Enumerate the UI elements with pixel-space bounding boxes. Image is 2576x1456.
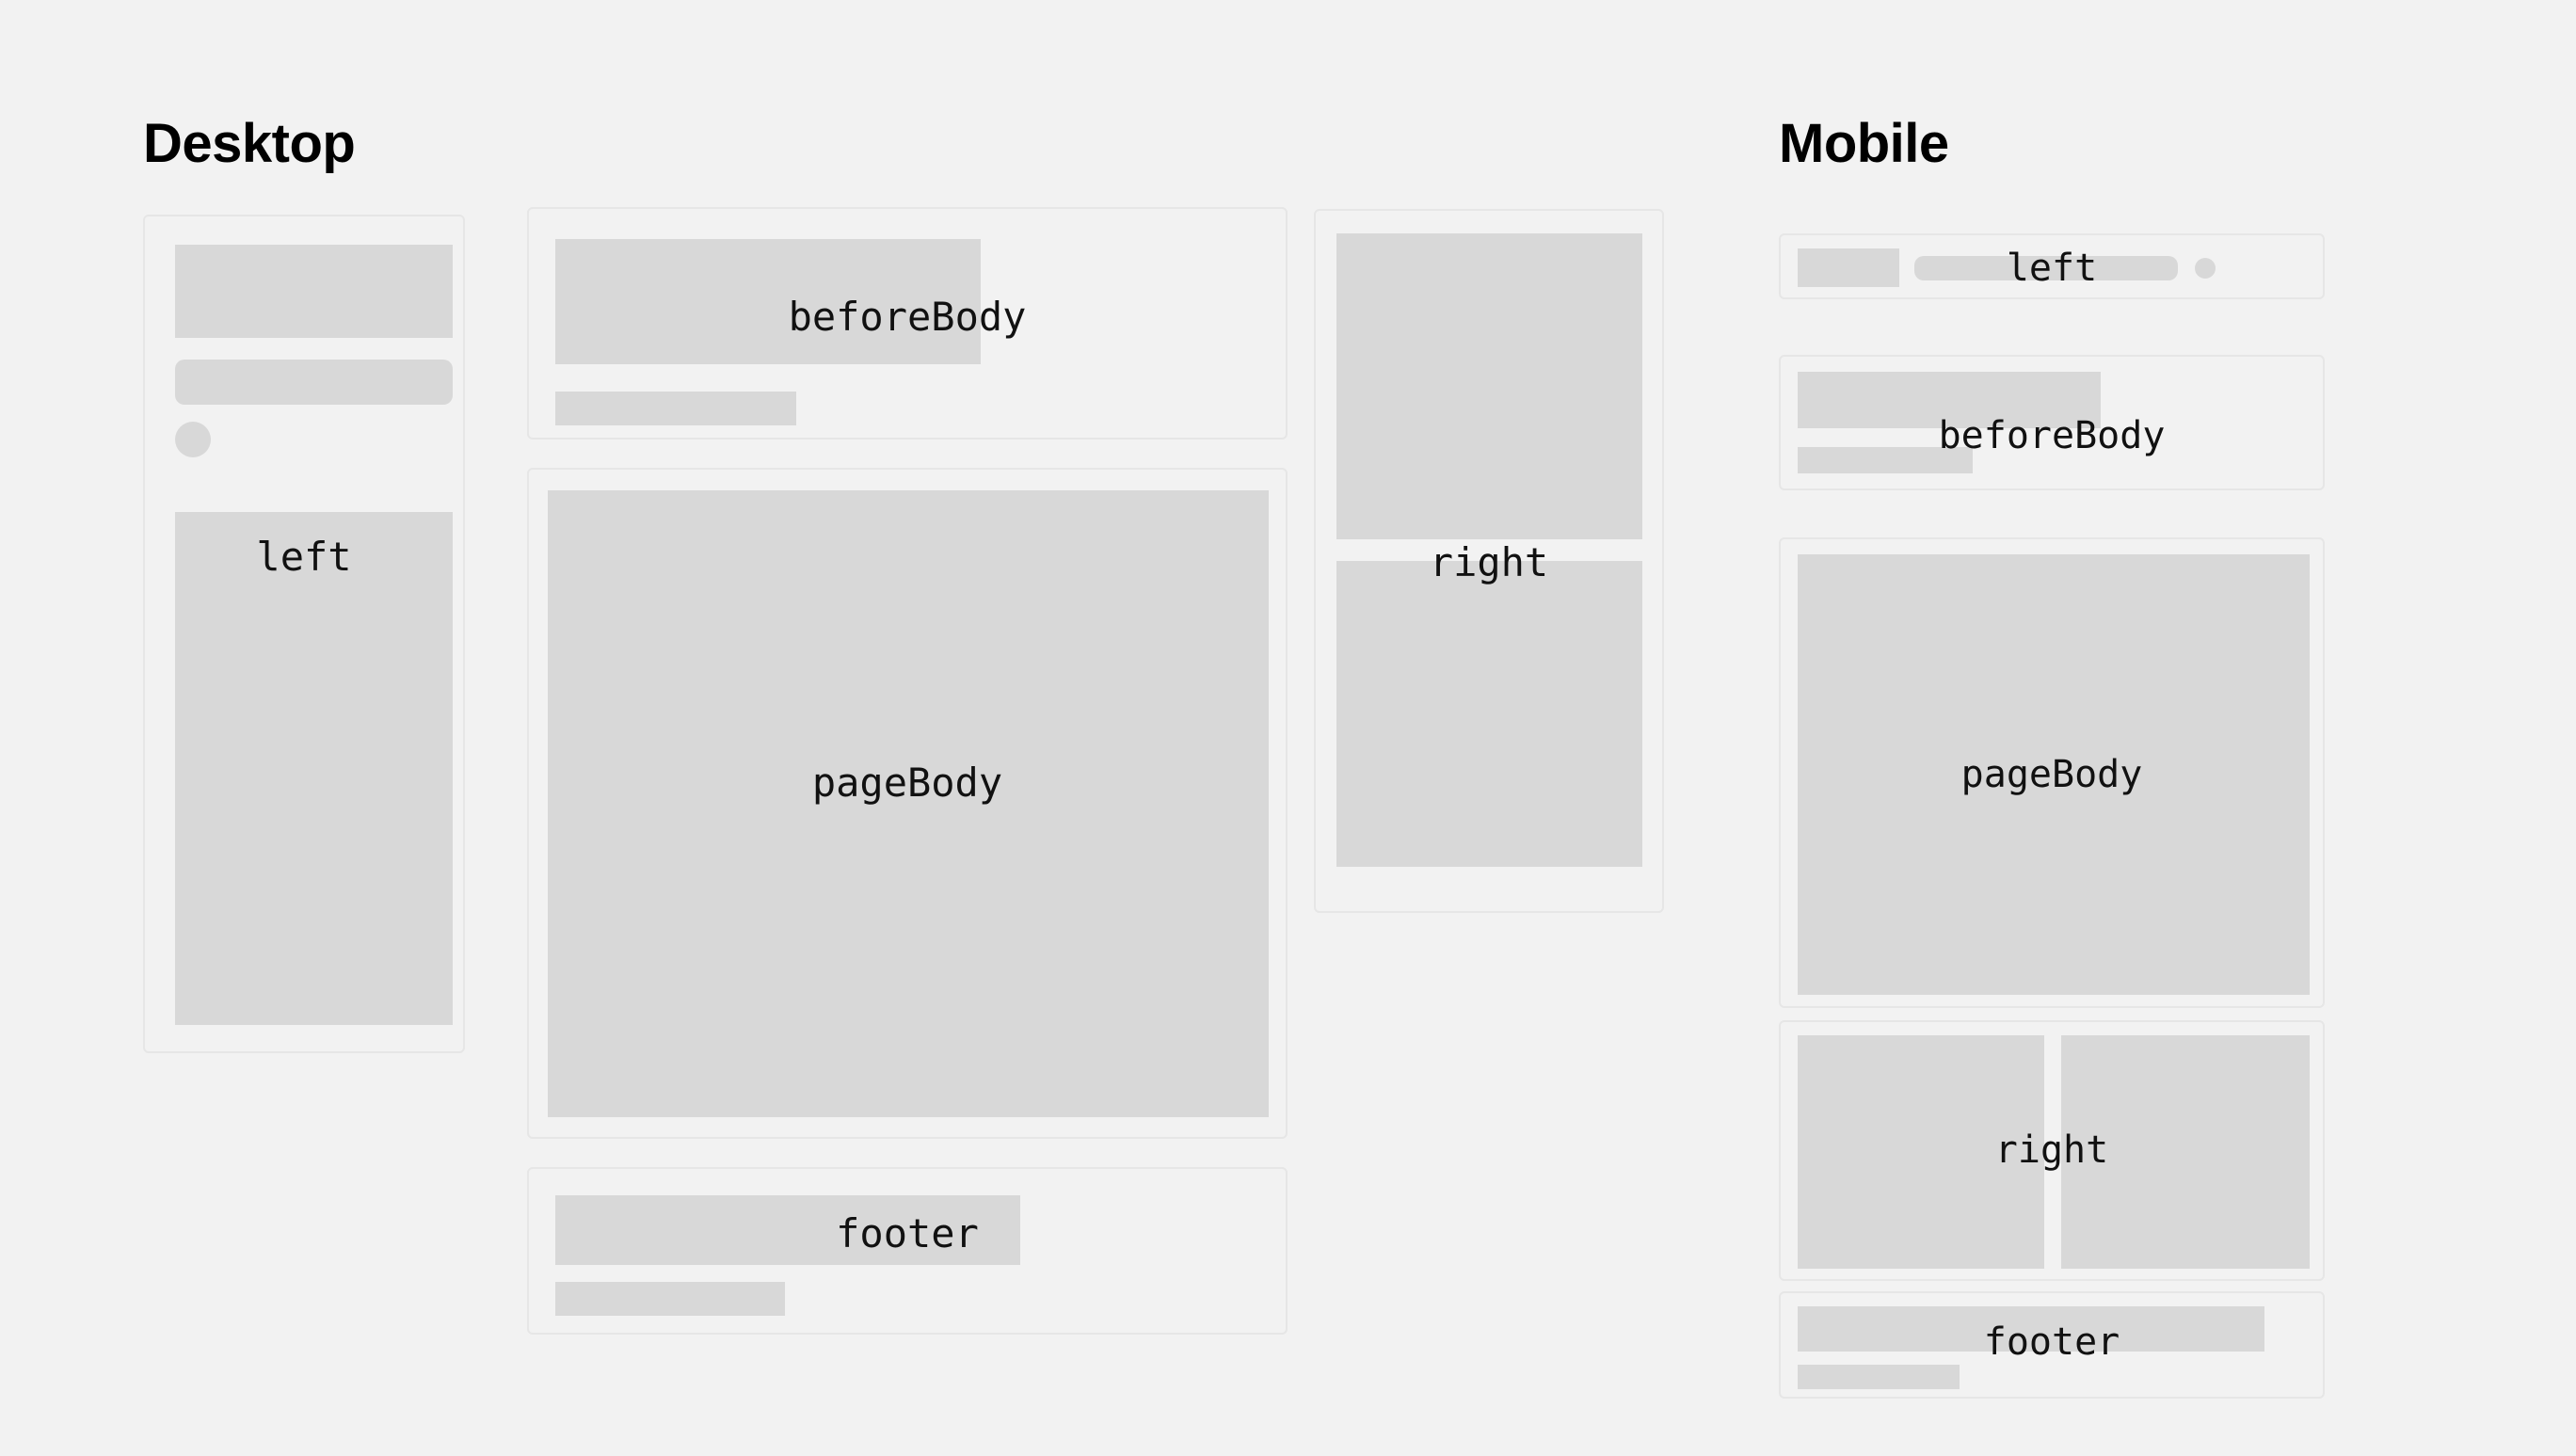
- mobile-left-nav-bar: [1914, 256, 2178, 280]
- mobile-right-widget-block-left: [1798, 1035, 2044, 1269]
- mobile-pagebody-body-block: [1798, 554, 2310, 995]
- desktop-right-widget-block-bottom: [1336, 561, 1642, 867]
- mobile-footer-subbar: [1798, 1365, 1960, 1389]
- desktop-beforebody-banner-block: [555, 239, 981, 364]
- mobile-region-pagebody-panel: [1779, 537, 2325, 1008]
- desktop-left-avatar-dot: [175, 422, 211, 457]
- desktop-left-header-block: [175, 245, 453, 338]
- mobile-right-widget-block-right: [2061, 1035, 2310, 1269]
- mobile-beforebody-banner-block: [1798, 372, 2101, 428]
- desktop-region-footer-panel: [527, 1167, 1288, 1335]
- mobile-region-right-panel: [1779, 1020, 2325, 1281]
- desktop-column-heading: Desktop: [143, 117, 355, 171]
- desktop-region-right-panel: [1314, 209, 1664, 913]
- desktop-footer-bar: [555, 1195, 1020, 1265]
- mobile-region-beforebody-panel: [1779, 355, 2325, 490]
- desktop-region-pagebody-panel: [527, 468, 1288, 1139]
- mobile-footer-bar: [1798, 1306, 2264, 1352]
- desktop-beforebody-caption-bar: [555, 392, 796, 425]
- mobile-region-left-panel: [1779, 233, 2325, 299]
- mobile-beforebody-caption-bar: [1798, 447, 1973, 473]
- mobile-left-avatar-dot: [2195, 258, 2216, 279]
- desktop-right-widget-block-top: [1336, 233, 1642, 539]
- mobile-region-footer-panel: [1779, 1291, 2325, 1399]
- desktop-left-content-block: [175, 512, 453, 1025]
- desktop-pagebody-body-block: [548, 490, 1269, 1117]
- desktop-region-beforebody-panel: [527, 207, 1288, 440]
- mobile-column-heading: Mobile: [1779, 117, 1949, 171]
- desktop-region-left-panel: [143, 215, 465, 1053]
- desktop-footer-subbar: [555, 1282, 785, 1316]
- mobile-left-header-block: [1798, 248, 1899, 287]
- desktop-left-nav-bar: [175, 360, 453, 405]
